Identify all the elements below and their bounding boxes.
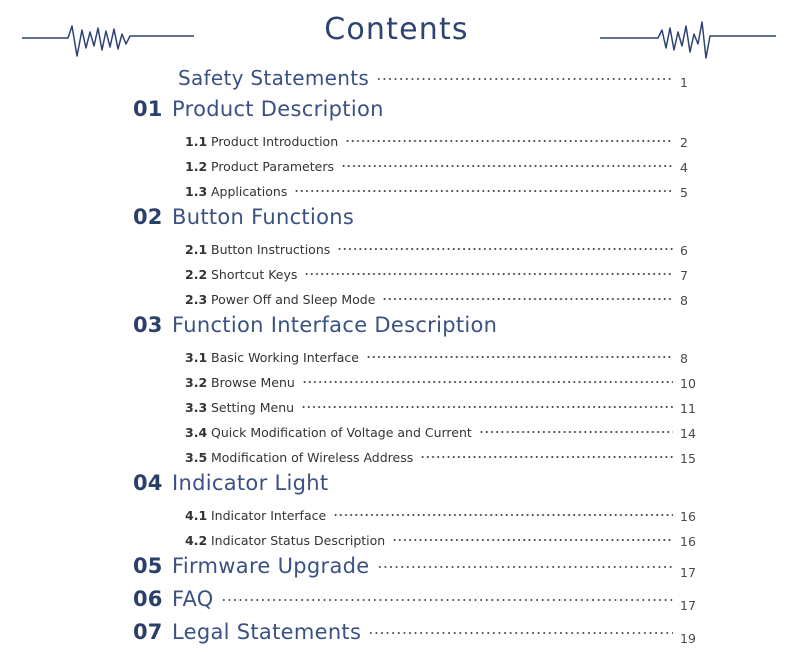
section-number: 2.1 <box>185 242 211 257</box>
toc-entry[interactable]: 2.3Power Off and Sleep Mode8 <box>0 288 793 313</box>
dot-leader <box>294 180 673 196</box>
page-number: 17 <box>680 565 696 580</box>
chapter-number: 03 <box>133 313 172 337</box>
toc-entry[interactable]: 05Firmware Upgrade17 <box>0 554 793 587</box>
dot-leader <box>304 263 673 279</box>
page-number: 6 <box>680 243 688 258</box>
page-number: 14 <box>680 426 696 441</box>
section-number: 3.2 <box>185 375 211 390</box>
toc-entry[interactable]: 4.1Indicator Interface16 <box>0 504 793 529</box>
toc-entry[interactable]: 1.1Product Introduction2 <box>0 130 793 155</box>
toc-entry[interactable]: 2.1Button Instructions6 <box>0 238 793 263</box>
chapter-title: Button Functions <box>172 205 354 229</box>
page-number: 2 <box>680 135 688 150</box>
toc-entry[interactable]: 02Button Functions <box>0 205 793 238</box>
toc-entry[interactable]: 04Indicator Light <box>0 471 793 504</box>
section-title: Product Introduction <box>211 134 338 149</box>
page-number: 1 <box>680 75 688 90</box>
chapter-title: Legal Statements <box>172 620 361 644</box>
toc-entry[interactable]: 07Legal Statements19 <box>0 620 793 653</box>
toc-entry[interactable]: 03Function Interface Description <box>0 313 793 346</box>
toc-entry[interactable]: 06FAQ17 <box>0 587 793 620</box>
chapter-title: Function Interface Description <box>172 313 497 337</box>
section-title: Indicator Interface <box>211 508 326 523</box>
section-title: Setting Menu <box>211 400 294 415</box>
dot-leader <box>392 529 673 545</box>
page-number: 15 <box>680 451 696 466</box>
section-title: Button Instructions <box>211 242 330 257</box>
section-number: 3.1 <box>185 350 211 365</box>
section-title: Modification of Wireless Address <box>211 450 413 465</box>
chapter-number: 06 <box>133 587 172 611</box>
section-title: Power Off and Sleep Mode <box>211 292 375 307</box>
toc-entry[interactable]: 3.3Setting Menu11 <box>0 396 793 421</box>
dot-leader <box>376 69 673 85</box>
chapter-number: 07 <box>133 620 172 644</box>
dot-leader <box>335 474 673 490</box>
section-number: 1.2 <box>185 159 211 174</box>
dot-leader <box>366 346 673 362</box>
toc-entry[interactable]: Safety Statements1 <box>0 66 793 97</box>
page-number: 19 <box>680 631 696 646</box>
dot-leader <box>345 130 673 146</box>
section-number: 3.4 <box>185 425 211 440</box>
toc-entry[interactable]: 01Product Description <box>0 97 793 130</box>
dot-leader <box>221 590 673 606</box>
section-number: 1.3 <box>185 184 211 199</box>
page-number: 8 <box>680 293 688 308</box>
section-title: Browse Menu <box>211 375 295 390</box>
entry-title: Safety Statements <box>178 66 369 90</box>
toc-entry[interactable]: 3.2Browse Menu10 <box>0 371 793 396</box>
dot-leader <box>479 421 673 437</box>
dot-leader <box>382 288 673 304</box>
section-title: Indicator Status Description <box>211 533 385 548</box>
toc-entry[interactable]: 1.3Applications5 <box>0 180 793 205</box>
section-title: Shortcut Keys <box>211 267 297 282</box>
toc-entry[interactable]: 1.2Product Parameters4 <box>0 155 793 180</box>
page-number: 4 <box>680 160 688 175</box>
chapter-title: Product Description <box>172 97 384 121</box>
page-number: 11 <box>680 401 696 416</box>
chapter-number: 05 <box>133 554 172 578</box>
chapter-title: FAQ <box>172 587 214 611</box>
dot-leader <box>391 100 673 116</box>
toc-entry[interactable]: 3.1Basic Working Interface8 <box>0 346 793 371</box>
toc-entry[interactable]: 4.2Indicator Status Description16 <box>0 529 793 554</box>
chapter-number: 02 <box>133 205 172 229</box>
section-number: 1.1 <box>185 134 211 149</box>
section-number: 3.3 <box>185 400 211 415</box>
table-of-contents: Safety Statements101Product Description1… <box>0 66 793 653</box>
toc-entry[interactable]: 3.4Quick Modification of Voltage and Cur… <box>0 421 793 446</box>
dot-leader <box>377 557 673 573</box>
dot-leader <box>420 446 673 462</box>
page-number: 16 <box>680 509 696 524</box>
page-number: 17 <box>680 598 696 613</box>
dot-leader <box>504 316 673 332</box>
toc-entry[interactable]: 3.5Modification of Wireless Address15 <box>0 446 793 471</box>
page-number: 16 <box>680 534 696 549</box>
chapter-title: Firmware Upgrade <box>172 554 370 578</box>
dot-leader <box>337 238 673 254</box>
page-header: Contents <box>0 0 793 66</box>
page-number: 7 <box>680 268 688 283</box>
section-title: Product Parameters <box>211 159 334 174</box>
dot-leader <box>302 371 673 387</box>
page-number: 5 <box>680 185 688 200</box>
section-title: Applications <box>211 184 287 199</box>
dot-leader <box>333 504 673 520</box>
section-number: 2.2 <box>185 267 211 282</box>
section-title: Quick Modification of Voltage and Curren… <box>211 425 472 440</box>
section-number: 3.5 <box>185 450 211 465</box>
dot-leader <box>368 623 673 639</box>
section-title: Basic Working Interface <box>211 350 359 365</box>
page-title: Contents <box>0 12 793 47</box>
page-number: 8 <box>680 351 688 366</box>
chapter-number: 01 <box>133 97 172 121</box>
dot-leader <box>361 208 673 224</box>
section-number: 4.2 <box>185 533 211 548</box>
page-number: 10 <box>680 376 696 391</box>
chapter-number: 04 <box>133 471 172 495</box>
dot-leader <box>301 396 673 412</box>
dot-leader <box>341 155 673 171</box>
toc-entry[interactable]: 2.2Shortcut Keys7 <box>0 263 793 288</box>
section-number: 4.1 <box>185 508 211 523</box>
section-number: 2.3 <box>185 292 211 307</box>
chapter-title: Indicator Light <box>172 471 328 495</box>
